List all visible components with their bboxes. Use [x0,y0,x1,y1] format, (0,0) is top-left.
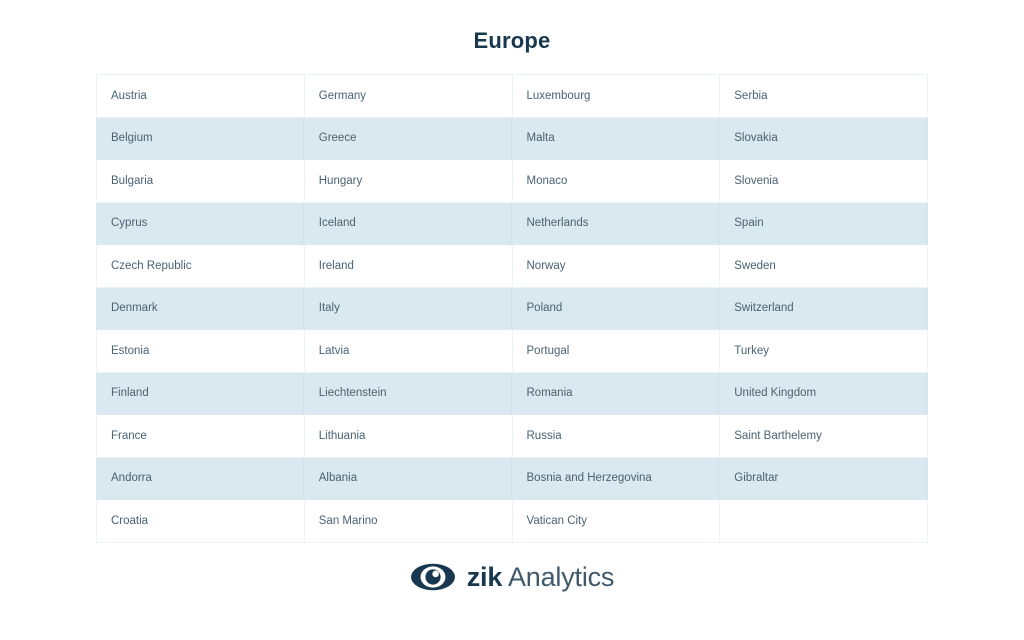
country-cell [720,500,928,543]
brand-logo: zik Analytics [0,562,1024,592]
country-cell: Liechtenstein [304,372,512,415]
country-cell: Gibraltar [720,457,928,500]
eye-icon [410,562,456,592]
country-cell: Turkey [720,330,928,373]
country-cell: Latvia [304,330,512,373]
table-row: FranceLithuaniaRussiaSaint Barthelemy [97,415,928,458]
country-cell: Portugal [512,330,720,373]
table-row: EstoniaLatviaPortugalTurkey [97,330,928,373]
country-cell: Andorra [97,457,305,500]
country-cell: Russia [512,415,720,458]
country-cell: Iceland [304,202,512,245]
table-row: FinlandLiechtensteinRomaniaUnited Kingdo… [97,372,928,415]
table-row: DenmarkItalyPolandSwitzerland [97,287,928,330]
table-row: BulgariaHungaryMonacoSlovenia [97,160,928,203]
country-cell: Poland [512,287,720,330]
country-cell: Hungary [304,160,512,203]
country-cell: Monaco [512,160,720,203]
country-cell: Slovakia [720,117,928,160]
country-cell: Saint Barthelemy [720,415,928,458]
page-root: Europe AustriaGermanyLuxembourgSerbiaBel… [0,0,1024,640]
country-table-container: AustriaGermanyLuxembourgSerbiaBelgiumGre… [96,74,928,543]
table-row: CroatiaSan MarinoVatican City [97,500,928,543]
country-cell: Denmark [97,287,305,330]
country-cell: Austria [97,75,305,118]
country-table-body: AustriaGermanyLuxembourgSerbiaBelgiumGre… [97,75,928,543]
page-title: Europe [0,28,1024,54]
table-row: Czech RepublicIrelandNorwaySweden [97,245,928,288]
country-cell: Estonia [97,330,305,373]
country-cell: Luxembourg [512,75,720,118]
brand-name-light: Analytics [502,562,614,592]
country-cell: Lithuania [304,415,512,458]
country-cell: Malta [512,117,720,160]
country-cell: Czech Republic [97,245,305,288]
table-row: AndorraAlbaniaBosnia and HerzegovinaGibr… [97,457,928,500]
country-cell: Germany [304,75,512,118]
country-cell: Spain [720,202,928,245]
country-cell: Bulgaria [97,160,305,203]
country-cell: Greece [304,117,512,160]
country-cell: France [97,415,305,458]
country-cell: Bosnia and Herzegovina [512,457,720,500]
country-cell: Serbia [720,75,928,118]
country-cell: Slovenia [720,160,928,203]
country-cell: Romania [512,372,720,415]
country-cell: Albania [304,457,512,500]
brand-wordmark: zik Analytics [467,562,614,592]
table-row: CyprusIcelandNetherlandsSpain [97,202,928,245]
table-row: AustriaGermanyLuxembourgSerbia [97,75,928,118]
country-cell: Belgium [97,117,305,160]
country-cell: Ireland [304,245,512,288]
country-cell: Norway [512,245,720,288]
country-table: AustriaGermanyLuxembourgSerbiaBelgiumGre… [96,74,928,543]
country-cell: Sweden [720,245,928,288]
country-cell: Italy [304,287,512,330]
country-cell: Netherlands [512,202,720,245]
country-cell: Switzerland [720,287,928,330]
country-cell: Finland [97,372,305,415]
country-cell: Vatican City [512,500,720,543]
table-row: BelgiumGreeceMaltaSlovakia [97,117,928,160]
country-cell: Cyprus [97,202,305,245]
country-cell: San Marino [304,500,512,543]
country-cell: Croatia [97,500,305,543]
country-cell: United Kingdom [720,372,928,415]
brand-name-bold: zik [467,562,502,592]
